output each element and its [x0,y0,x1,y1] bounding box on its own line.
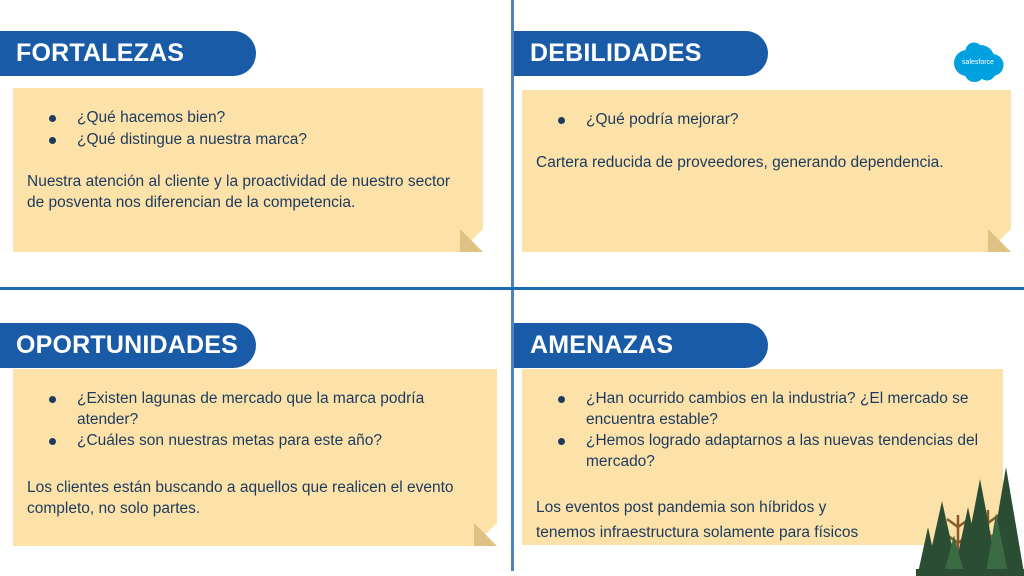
card-note-amenazas: Los eventos post pandemia son híbridos y… [536,498,989,544]
quadrant-fortalezas: FORTALEZAS ¿Qué hacemos bien? ¿Qué disti… [0,0,511,287]
bullet-list-oportunidades: ¿Existen lagunas de mercado que la marca… [49,389,483,452]
list-item: ¿Hemos logrado adaptarnos a las nuevas t… [558,431,989,472]
card-fold-corner-icon [474,523,497,546]
quadrant-debilidades: DEBILIDADES ¿Qué podría mejorar? Cartera… [514,0,1024,287]
banner-debilidades: DEBILIDADES [514,31,768,76]
card-fold-corner-icon [980,522,1003,545]
bullet-list-amenazas: ¿Han ocurrido cambios en la industria? ¿… [558,389,989,472]
card-note-line: Los eventos post pandemia son híbridos y [536,498,989,519]
list-item: ¿Han ocurrido cambios en la industria? ¿… [558,389,989,430]
salesforce-cloud-logo: salesforce [952,41,1004,82]
quadrant-title-amenazas: AMENAZAS [530,333,673,358]
divider-vertical [511,0,514,571]
svg-text:salesforce: salesforce [962,59,994,66]
card-note-fortalezas: Nuestra atención al cliente y la proacti… [27,172,469,214]
quadrant-title-debilidades: DEBILIDADES [530,41,702,66]
banner-amenazas: AMENAZAS [514,323,768,368]
card-note-oportunidades: Los clientes están buscando a aquellos q… [27,478,483,520]
card-fold-corner-icon [988,229,1011,252]
card-oportunidades: ¿Existen lagunas de mercado que la marca… [13,369,497,546]
swot-slide: FORTALEZAS ¿Qué hacemos bien? ¿Qué disti… [0,0,1024,576]
card-fortalezas: ¿Qué hacemos bien? ¿Qué distingue a nues… [13,88,483,252]
quadrant-oportunidades: OPORTUNIDADES ¿Existen lagunas de mercad… [0,290,511,576]
banner-oportunidades: OPORTUNIDADES [0,323,256,368]
quadrant-title-fortalezas: FORTALEZAS [16,41,184,66]
card-debilidades: ¿Qué podría mejorar? Cartera reducida de… [522,90,1011,252]
list-item: ¿Existen lagunas de mercado que la marca… [49,389,483,430]
list-item: ¿Qué distingue a nuestra marca? [49,130,469,151]
quadrant-amenazas: AMENAZAS ¿Han ocurrido cambios en la ind… [514,290,1024,576]
card-fold-corner-icon [460,229,483,252]
card-note-debilidades: Cartera reducida de proveedores, generan… [536,153,997,174]
bullet-list-fortalezas: ¿Qué hacemos bien? ¿Qué distingue a nues… [49,108,469,150]
quadrant-title-oportunidades: OPORTUNIDADES [16,333,238,358]
card-note-line: tenemos infraestructura solamente para f… [536,523,989,544]
list-item: ¿Cuáles son nuestras metas para este año… [49,431,483,452]
card-amenazas: ¿Han ocurrido cambios en la industria? ¿… [522,369,1003,545]
bullet-list-debilidades: ¿Qué podría mejorar? [558,110,997,131]
banner-fortalezas: FORTALEZAS [0,31,256,76]
list-item: ¿Qué hacemos bien? [49,108,469,129]
list-item: ¿Qué podría mejorar? [558,110,997,131]
divider-horizontal [0,287,1024,290]
